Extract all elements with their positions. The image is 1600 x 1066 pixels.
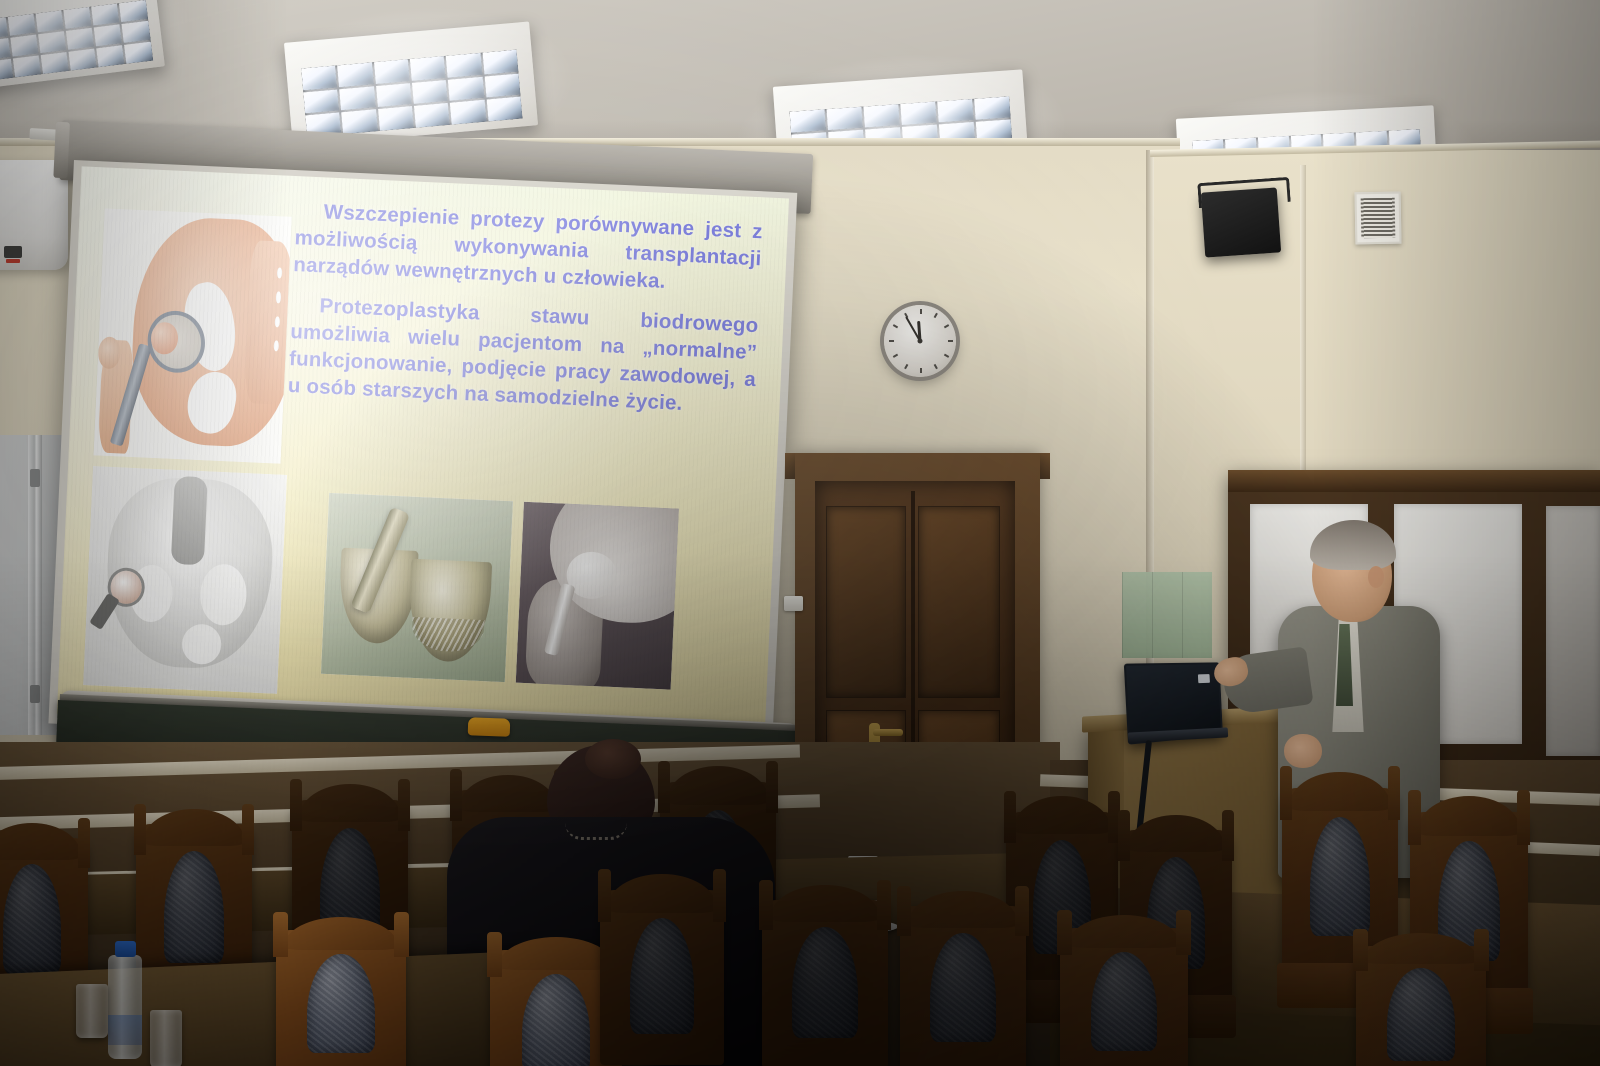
slide-paragraph-2: Protezoplastyka stawu biodrowego umożliw… (287, 292, 759, 420)
chair[interactable] (276, 930, 406, 1066)
ceiling-light-2 (284, 21, 538, 146)
hip-xray-photo (515, 502, 679, 690)
drinking-glass[interactable] (150, 1010, 182, 1066)
bottle-cap (115, 941, 136, 957)
presenter-hair (1310, 520, 1396, 570)
presenter-hand (1284, 734, 1322, 768)
slide-paragraph-1: Wszczepienie protezy porównywane jest z … (293, 198, 763, 300)
chair[interactable] (600, 890, 724, 1065)
audience-member-hair (585, 739, 641, 779)
wall-speaker (1201, 187, 1281, 257)
lecture-hall-photo: Wszczepienie protezy porównywane jest z … (0, 0, 1600, 1066)
whiteboard-hinge (28, 435, 42, 735)
door-handle[interactable] (873, 729, 903, 736)
ventilation-grille (1355, 192, 1402, 245)
audience-member-necklace (565, 823, 627, 840)
acetabular-cups-photo (321, 493, 513, 682)
chair[interactable] (900, 906, 1026, 1066)
wall-tiles (1122, 572, 1212, 658)
pelvis-model-render (83, 466, 287, 694)
presentation-slide: Wszczepienie protezy porównywane jest z … (57, 166, 789, 746)
presenter-ear (1368, 566, 1384, 588)
orange-object[interactable] (468, 717, 511, 736)
chair[interactable] (1060, 928, 1188, 1066)
wall-clock (884, 305, 956, 377)
chair[interactable] (1356, 946, 1486, 1066)
light-switch[interactable] (784, 596, 803, 611)
water-bottle[interactable] (108, 955, 142, 1059)
hip-anatomy-illustration (93, 209, 292, 464)
slide-text-block: Wszczepienie protezy porównywane jest z … (287, 198, 763, 421)
chair[interactable] (762, 900, 888, 1066)
drinking-glass[interactable] (76, 984, 108, 1038)
projection-screen[interactable]: Wszczepienie protezy porównywane jest z … (48, 160, 797, 756)
